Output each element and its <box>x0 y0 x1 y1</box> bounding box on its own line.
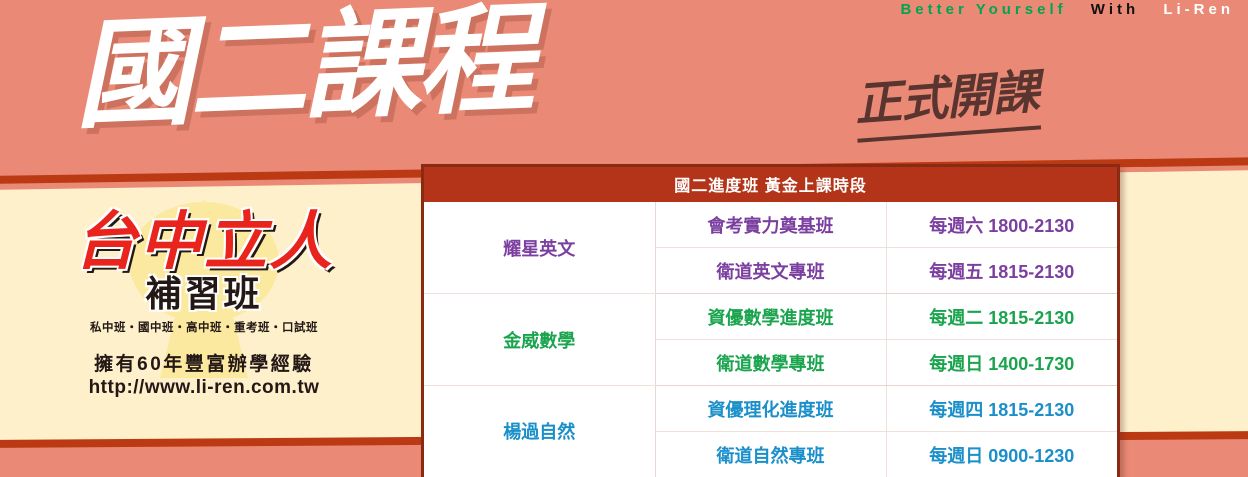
page-subtitle: 正式開課 <box>852 53 1041 143</box>
cell-time: 每週六 1800-2130 <box>886 202 1117 248</box>
cell-course: 資優理化進度班 <box>655 386 886 432</box>
english-tagline: Better Yourself With Li-Ren <box>900 1 1234 18</box>
cell-time: 每週四 1815-2130 <box>886 386 1117 432</box>
table-row: 金威數學資優數學進度班每週二 1815-2130 <box>424 294 1117 340</box>
schedule-table-head: 國二進度班 黃金上課時段 <box>424 167 1117 202</box>
cell-time: 每週日 0900-1230 <box>886 432 1117 477</box>
table-row: 楊過自然資優理化進度班每週四 1815-2130 <box>424 386 1117 432</box>
schedule-table-container: 國二進度班 黃金上課時段 耀星英文會考實力奠基班每週六 1800-2130衛道英… <box>421 164 1120 477</box>
schedule-table-title: 國二進度班 黃金上課時段 <box>424 167 1117 202</box>
tagline-part-with: With <box>1091 1 1139 18</box>
page-title: 國二課程 <box>72 0 532 138</box>
promo-banner: Better Yourself With Li-Ren 國二課程 正式開課 台中… <box>0 0 1248 477</box>
tagline-part-better-yourself: Better Yourself <box>900 1 1066 18</box>
cell-course: 衛道自然專班 <box>655 432 886 477</box>
logo-class-list: 私中班・國中班・高中班・重考班・口試班 <box>44 319 364 335</box>
logo-experience-text: 擁有60年豐富辦學經驗 <box>44 349 364 376</box>
logo-website-url[interactable]: http://www.li-ren.com.tw <box>44 377 364 399</box>
schedule-table: 國二進度班 黃金上課時段 耀星英文會考實力奠基班每週六 1800-2130衛道英… <box>424 167 1117 477</box>
cell-subject: 耀星英文 <box>424 202 655 294</box>
cell-time: 每週二 1815-2130 <box>886 294 1117 340</box>
schedule-table-body: 耀星英文會考實力奠基班每週六 1800-2130衛道英文專班每週五 1815-2… <box>424 202 1117 477</box>
cell-course: 會考實力奠基班 <box>655 202 886 248</box>
table-row: 耀星英文會考實力奠基班每週六 1800-2130 <box>424 202 1117 248</box>
cell-time: 每週五 1815-2130 <box>886 248 1117 294</box>
cell-subject: 金威數學 <box>424 294 655 386</box>
cell-course: 資優數學進度班 <box>655 294 886 340</box>
tagline-part-li-ren: Li-Ren <box>1163 1 1234 18</box>
cell-course: 衛道數學專班 <box>655 340 886 386</box>
table-header-row: 國二進度班 黃金上課時段 <box>424 167 1117 202</box>
cell-course: 衛道英文專班 <box>655 248 886 294</box>
cell-subject: 楊過自然 <box>424 386 655 477</box>
logo-institution-type: 補習班 <box>44 277 364 313</box>
logo-brand-name: 台中立人 <box>44 210 364 273</box>
cell-time: 每週日 1400-1730 <box>886 340 1117 386</box>
school-logo: 台中立人 補習班 私中班・國中班・高中班・重考班・口試班 擁有60年豐富辦學經驗… <box>44 196 364 418</box>
